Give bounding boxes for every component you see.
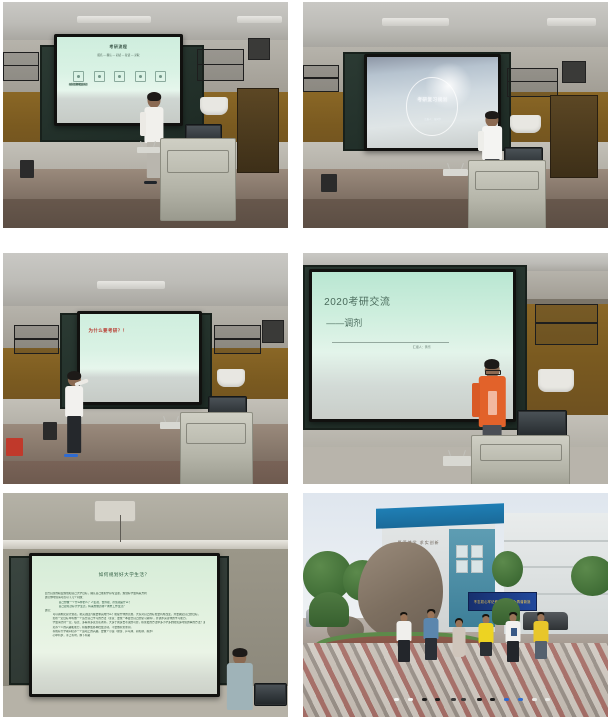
photo-4[interactable]: 2020考研交流 ——调剂 汇报人：黄乐 [303, 253, 608, 484]
legs [425, 638, 437, 660]
photo-3[interactable]: 为什么要考研？！ [3, 253, 288, 484]
projector-arm [120, 515, 122, 542]
shoe [532, 698, 537, 701]
slide-campus-life-plan: 如何规划好大学生活？ 结合自身的职业规划和自己大学目标，确认自己能把学好专业课，… [32, 556, 217, 693]
air-conditioner [217, 369, 246, 387]
slide-subtitle: 报名 — 确认 — 初试 — 复试 — 录取 [57, 53, 179, 57]
air-conditioner [510, 115, 541, 133]
wifi-router [443, 169, 467, 176]
teaching-podium [471, 435, 571, 484]
process-step-label: 调剂、复试及录取 [65, 83, 91, 86]
classroom-photo-why-postgrad: 为什么要考研？！ [3, 253, 288, 484]
classroom-photo-campus-life-plan: 如何规划好大学生活？ 结合自身的职业规划和自己大学目标，确认自己能把学好专业课，… [3, 493, 288, 717]
group-person-6 [529, 612, 553, 702]
bullet-item: 心中有梦，手上有时，脚下有路 [45, 634, 206, 638]
slide-divider [332, 342, 449, 343]
hair [67, 371, 81, 380]
ceiling-light [237, 16, 283, 24]
shoe [477, 698, 482, 701]
wall-shelf-left [303, 65, 339, 92]
group-person-5 [501, 612, 525, 702]
arm [472, 383, 480, 417]
door [237, 88, 279, 174]
torso [65, 386, 83, 418]
door [550, 95, 598, 178]
shirt-print [511, 628, 517, 636]
lectern-monitor [254, 683, 287, 705]
photo-1[interactable]: 考研流程 报名 — 确认 — 初试 — 复试 — 录取 报名及报考点选择 现场确… [3, 2, 288, 228]
window [456, 560, 469, 573]
process-step-icon: 现场确认 [94, 71, 105, 82]
torso [226, 663, 252, 710]
slide-title: 2020考研交流 [324, 293, 485, 308]
slide-title: 为什么要考研？！ [88, 328, 184, 334]
sandal [461, 698, 466, 701]
slide-bullets: 结合自身的职业规划和自己大学目标，确认自己能把学好专业课，规划好学会将来方向 建… [45, 592, 206, 638]
speaker-person [57, 373, 91, 456]
shoe [144, 181, 156, 184]
shoe [64, 454, 78, 457]
hair [147, 92, 161, 101]
ceiling [3, 493, 288, 547]
shoe [394, 698, 399, 701]
projector-screen-frame: 为什么要考研？！ [77, 311, 202, 406]
wall-shelf-left [14, 325, 59, 355]
slide-title: 如何规划好大学生活？ [32, 572, 217, 578]
group-person-2 [419, 609, 443, 701]
classroom-photo-review-plan: 考研复习规划 汇报人：张同学 [303, 2, 608, 228]
slide-title: 考研复习规划 [367, 97, 498, 103]
shirt-print [488, 391, 497, 414]
photo-5[interactable]: 如何规划好大学生活？ 结合自身的职业规划和自己大学目标，确认自己能把学好专业课，… [3, 493, 288, 717]
legs [480, 642, 492, 656]
process-step-icon: 初试 [114, 71, 125, 82]
torso [396, 621, 411, 641]
window [471, 560, 484, 573]
torso [424, 618, 439, 639]
slide-why-postgrad: 为什么要考研？！ [80, 314, 199, 403]
process-step-icon: 调剂、复试及录取 [155, 71, 166, 82]
torso [482, 126, 502, 160]
window [471, 545, 484, 558]
hair [484, 359, 499, 369]
process-step-icon: 成绩查询及复试 [135, 71, 146, 82]
slide-title: 考研流程 [57, 44, 179, 50]
trash-bin [43, 422, 57, 440]
wall-shelf-right [214, 325, 262, 355]
slide-subtitle: ——调剂 [326, 316, 362, 329]
dot-icon [139, 75, 142, 78]
tree [571, 556, 608, 596]
projector-screen-frame: 如何规划好大学生活？ 结合自身的职业规划和自己大学目标，确认自己能把学好专业课，… [29, 553, 220, 696]
air-conditioner [538, 369, 575, 392]
wall-shelf-left [3, 52, 39, 81]
group-person-4 [474, 614, 498, 701]
photo-6[interactable]: 厚德博学 求实创新 不忘初心牢记使命 担当作为再谱新篇 [303, 493, 608, 717]
torso [478, 623, 493, 643]
dot-icon [98, 75, 101, 78]
trash-bin [321, 174, 336, 192]
dot-icon [77, 75, 80, 78]
hedge [309, 592, 349, 628]
process-step-icon: 报名及报考点选择 [73, 71, 84, 82]
shoe [408, 698, 413, 701]
wifi-router [137, 147, 160, 154]
dot-icon [118, 75, 121, 78]
ceiling-light [77, 16, 151, 24]
ceiling-light [547, 18, 596, 26]
hair [232, 648, 247, 657]
wifi-router [443, 456, 470, 465]
legs [67, 416, 81, 453]
tree [492, 551, 523, 587]
torso [533, 621, 548, 642]
arm [140, 112, 145, 136]
teaching-podium [160, 138, 236, 221]
outdoor-group-photo: 厚德博学 求实创新 不忘初心牢记使命 担当作为再谱新篇 [303, 493, 608, 717]
ceiling [3, 253, 288, 306]
speaker-box [262, 320, 284, 343]
group-person-3 [446, 618, 470, 701]
glasses-icon [485, 370, 501, 375]
air-conditioner [200, 97, 229, 115]
monitor-screen [519, 412, 566, 438]
shoe [504, 698, 509, 701]
dot-icon [159, 75, 162, 78]
teaching-podium [468, 160, 546, 228]
hair [485, 111, 499, 119]
speaker-box [562, 61, 585, 83]
speaker-box [248, 38, 270, 60]
wall-shelf-right [507, 68, 558, 97]
dress [452, 627, 465, 657]
ceiling-light [97, 281, 165, 289]
teaching-podium [180, 412, 253, 484]
red-stool [6, 438, 23, 456]
slide-byline: 汇报人：黄乐 [413, 345, 431, 349]
photo-2[interactable]: 考研复习规划 汇报人：张同学 [303, 2, 608, 228]
sandal [451, 698, 456, 701]
monitor-screen [256, 685, 285, 703]
classroom-photo-presentation-process: 考研流程 报名 — 确认 — 初试 — 复试 — 录取 报名及报考点选择 现场确… [3, 2, 288, 228]
legs [507, 641, 519, 662]
classroom-photo-2020-transfer: 2020考研交流 ——调剂 汇报人：黄乐 [303, 253, 608, 484]
ceiling-light [382, 18, 449, 26]
trash-bin [20, 160, 34, 178]
legs [535, 641, 547, 659]
shoe [545, 698, 550, 701]
shoe [422, 698, 427, 701]
ceiling-beam [3, 540, 288, 549]
shoe [518, 698, 523, 701]
shoe [490, 698, 495, 701]
legs [398, 640, 410, 662]
process-icon-row: 报名及报考点选择 现场确认 初试 成绩查询及复试 调剂、复试及录取 [73, 71, 166, 82]
projector-mount [94, 500, 136, 522]
shoe [435, 698, 440, 701]
window [456, 545, 469, 558]
arm [478, 131, 483, 151]
wall-shelf-right [535, 304, 598, 345]
photo-collage: 考研流程 报名 — 确认 — 初试 — 复试 — 录取 报名及报考点选择 现场确… [0, 0, 611, 719]
wall-shelf-right [197, 49, 245, 80]
group-person-1 [391, 612, 415, 702]
